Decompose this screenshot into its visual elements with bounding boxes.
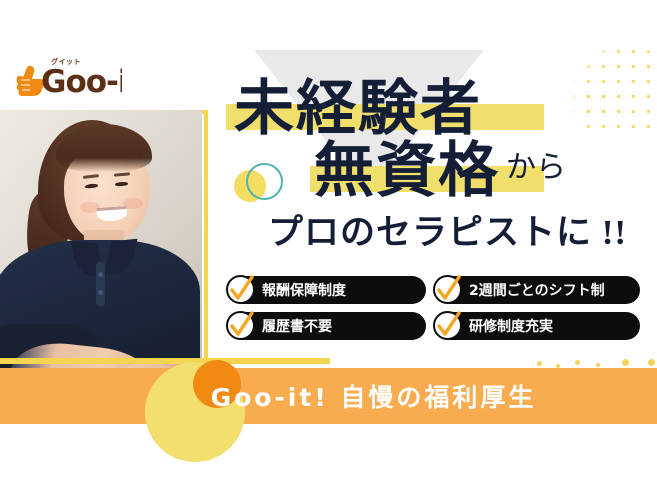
benefit-badge-group: 報酬保障制度 2週間ごとのシフト制 履歴書不要 xyxy=(228,276,648,348)
dot-decoration xyxy=(648,359,655,366)
headline-line-1: 未経験者 xyxy=(234,76,482,142)
goo-it-logo: グイット Goo-it! xyxy=(14,52,122,96)
benefit-badge-label: 研修制度充実 xyxy=(469,316,553,336)
banner-canvas: グイット Goo-it! xyxy=(0,0,657,484)
benefit-badge-label: 履歴書不要 xyxy=(262,316,332,336)
dot-decoration xyxy=(596,363,600,367)
svg-text:Goo-it!: Goo-it! xyxy=(41,64,122,98)
headline-line-2: 無資格 xyxy=(314,140,500,202)
dot-decoration xyxy=(537,361,542,366)
benefit-badge-row: 報酬保障制度 2週間ごとのシフト制 xyxy=(228,276,648,304)
benefit-badge-row: 履歴書不要 研修制度充実 xyxy=(228,312,648,340)
check-icon xyxy=(224,273,258,307)
dot-decoration xyxy=(575,360,580,365)
therapist-photo xyxy=(0,110,202,393)
headline-line-2-suffix: から xyxy=(506,151,566,184)
benefit-badge-label: 2週間ごとのシフト制 xyxy=(469,280,605,300)
benefit-badge: 研修制度充実 xyxy=(435,312,640,340)
dot-decoration xyxy=(622,359,629,366)
headline-block: 未経験者 無資格から プロのセラピストに !! xyxy=(232,78,652,255)
benefit-badge-label: 報酬保障制度 xyxy=(262,280,346,300)
benefit-badge: 履歴書不要 xyxy=(228,312,426,340)
banner-stripe xyxy=(0,358,330,364)
benefit-badge: 2週間ごとのシフト制 xyxy=(435,276,640,304)
headline-line-3: プロのセラピストに !! xyxy=(268,204,652,255)
check-icon xyxy=(431,309,465,343)
benefit-badge: 報酬保障制度 xyxy=(228,276,426,304)
benefits-banner-text: Goo-it! 自慢の福利厚生 xyxy=(0,368,657,424)
check-icon xyxy=(431,273,465,307)
check-icon xyxy=(224,309,258,343)
